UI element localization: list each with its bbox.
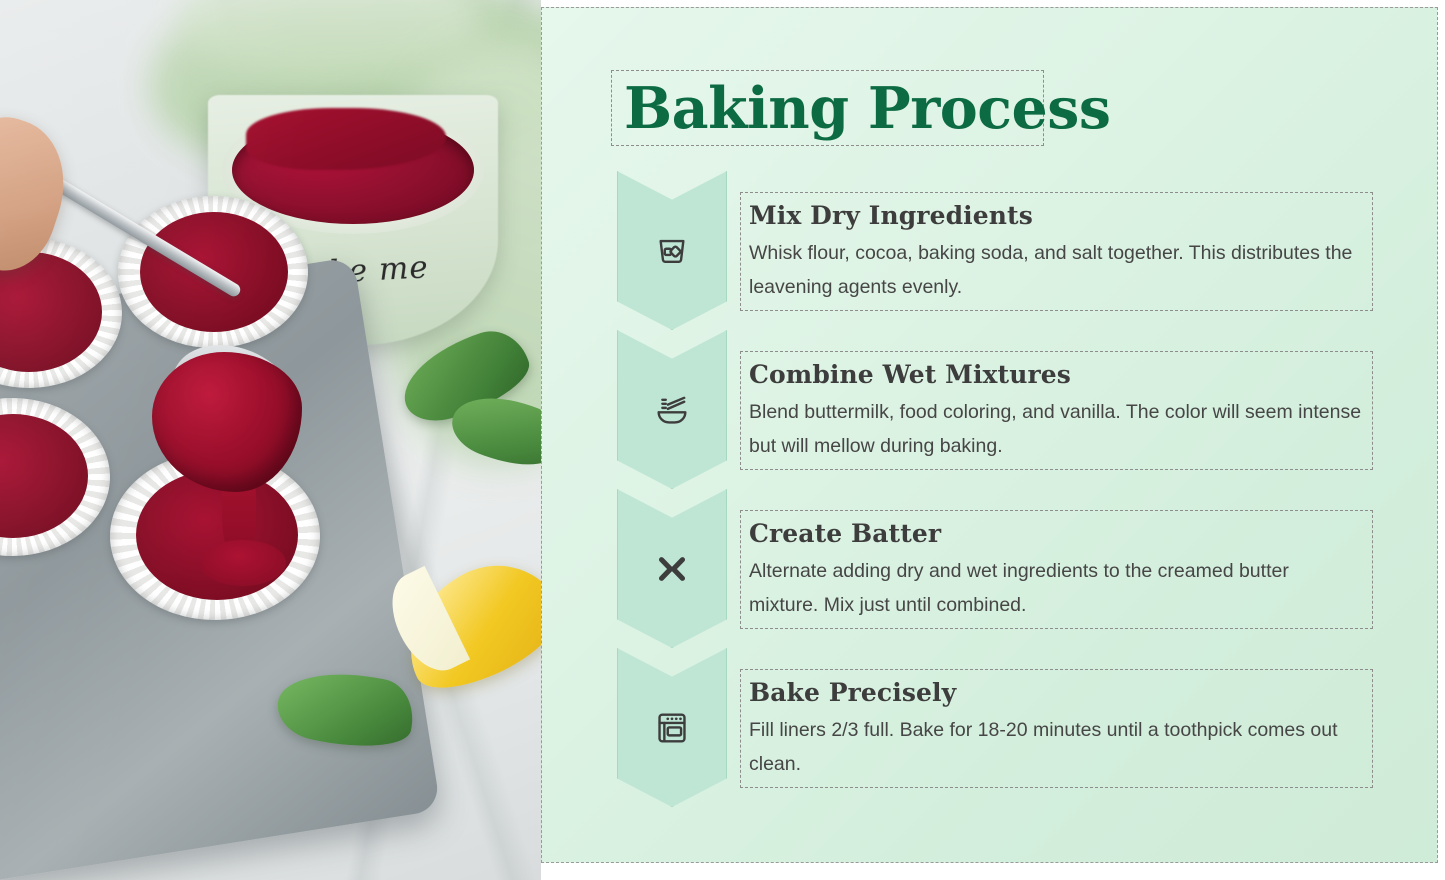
page-title: Baking Process [624,73,1110,145]
step-item[interactable]: Bake Precisely Fill liners 2/3 full. Bak… [542,648,1439,807]
step-text-box: Create Batter Alternate adding dry and w… [740,510,1373,629]
mix-cross-icon [617,489,727,648]
step-item[interactable]: Combine Wet Mixtures Blend buttermilk, f… [542,330,1439,489]
step-description: Fill liners 2/3 full. Bake for 18-20 min… [749,713,1362,781]
step-title: Bake Precisely [749,676,1362,710]
step-description: Alternate adding dry and wet ingredients… [749,554,1362,622]
photo-overlay [0,0,541,880]
steps-list: Mix Dry Ingredients Whisk flour, cocoa, … [542,171,1439,807]
recipe-photo: Bake me [0,0,541,880]
step-title: Mix Dry Ingredients [749,199,1362,233]
step-item[interactable]: Create Batter Alternate adding dry and w… [542,489,1439,648]
step-description: Blend buttermilk, food coloring, and van… [749,395,1362,463]
step-text-box: Combine Wet Mixtures Blend buttermilk, f… [740,351,1373,470]
measuring-cup-icon [617,171,727,330]
page-title-box: Baking Process [611,70,1044,146]
step-item[interactable]: Mix Dry Ingredients Whisk flour, cocoa, … [542,171,1439,330]
step-text-box: Mix Dry Ingredients Whisk flour, cocoa, … [740,192,1373,311]
step-text-box: Bake Precisely Fill liners 2/3 full. Bak… [740,669,1373,788]
step-description: Whisk flour, cocoa, baking soda, and sal… [749,236,1362,304]
step-title: Create Batter [749,517,1362,551]
process-panel: Baking Process Mix Dry Ingredients Whisk… [541,7,1438,863]
step-title: Combine Wet Mixtures [749,358,1362,392]
noodle-bowl-icon [617,330,727,489]
slide-canvas: Bake me Baking Process [0,0,1445,880]
oven-icon [617,648,727,807]
